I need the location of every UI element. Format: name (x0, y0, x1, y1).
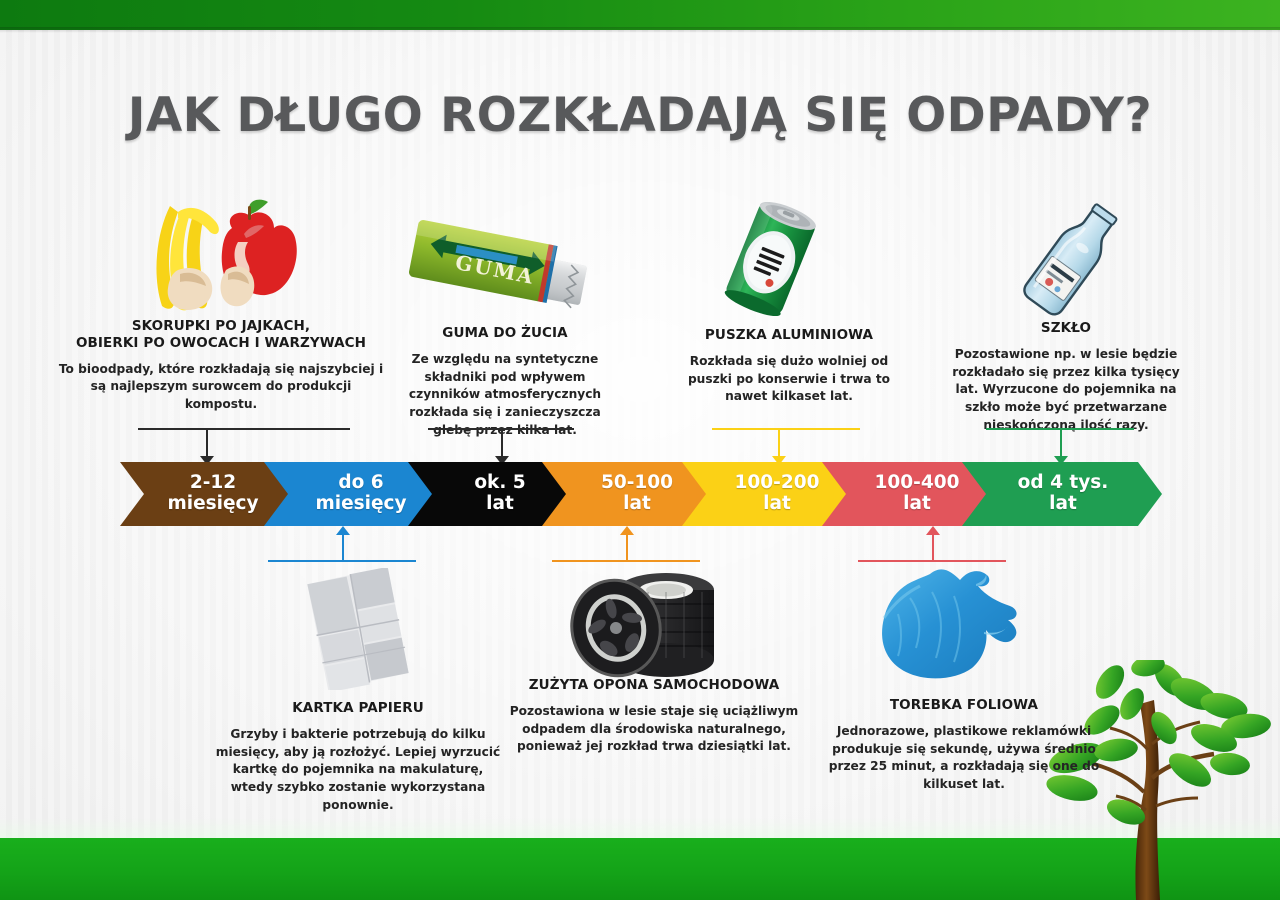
aluminium-can-icon (712, 202, 836, 320)
poster-canvas: JAK DŁUGO ROZKŁADAJĄ SIĘ ODPADY? (0, 0, 1280, 900)
timeline-segment-6: od 4 tys. lat (984, 462, 1142, 526)
decomposition-timeline: 2-12 miesięcy do 6 miesięcy ok. 5 lat 50… (120, 462, 1162, 526)
segment-line1: 2-12 (190, 473, 236, 494)
connector-plastic-bag (858, 526, 1006, 562)
card-body: To bioodpady, które rozkładają się najsz… (56, 361, 386, 414)
connector-tyre (552, 526, 700, 562)
connector-aluminium-can (712, 428, 860, 464)
paper-sheet-icon (292, 568, 418, 690)
timeline-segment-2: ok. 5 lat (430, 462, 570, 526)
card-heading: PUSZKA ALUMINIOWA (678, 327, 900, 344)
segment-line2: lat (486, 494, 514, 515)
segment-line1: ok. 5 (474, 473, 525, 494)
card-heading: SZKŁO (944, 320, 1188, 337)
segment-line1: 100-400 (875, 473, 960, 494)
page-title: JAK DŁUGO ROZKŁADAJĄ SIĘ ODPADY? (0, 88, 1280, 143)
card-heading: TOREBKA FOLIOWA (828, 697, 1100, 714)
car-tyre-icon (560, 566, 724, 684)
segment-line1: 100-200 (735, 473, 820, 494)
segment-line1: 50-100 (601, 473, 673, 494)
segment-line2: miesięcy (167, 494, 258, 515)
segment-line1: do 6 (338, 473, 383, 494)
card-body: Ze względu na syntetyczne składniki pod … (398, 351, 612, 439)
glass-bottle-icon (1012, 196, 1132, 322)
timeline-segment-4: 100-200 lat (704, 462, 850, 526)
card-paper: KARTKA PAPIERU Grzyby i bakterie potrzeb… (212, 700, 504, 814)
segment-line2: lat (1049, 494, 1077, 515)
top-green-bar (0, 0, 1280, 30)
chewing-gum-icon: GUMA (398, 212, 608, 318)
card-body: Grzyby i bakterie potrzebują do kilku mi… (212, 726, 504, 814)
card-body: Pozostawiona w lesie staje się uciążliwy… (508, 703, 800, 756)
card-heading: KARTKA PAPIERU (212, 700, 504, 717)
food-scraps-icon (112, 198, 312, 318)
card-body: Jednorazowe, plastikowe reklamówki produ… (828, 723, 1100, 794)
card-body: Rozkłada się dużo wolniej od puszki po k… (678, 353, 900, 406)
timeline-segment-1: do 6 miesięcy (286, 462, 436, 526)
segment-line2: lat (903, 494, 931, 515)
connector-glass (986, 428, 1134, 464)
card-glass: SZKŁO Pozostawione np. w lesie będzie ro… (944, 320, 1188, 434)
segment-line2: miesięcy (315, 494, 406, 515)
timeline-segment-5: 100-400 lat (844, 462, 990, 526)
connector-paper (268, 526, 416, 562)
card-chewing-gum: GUMA DO ŻUCIA Ze względu na syntetyczne … (398, 325, 612, 439)
timeline-segment-0: 2-12 miesięcy (138, 462, 288, 526)
plastic-bag-icon (876, 562, 1032, 688)
card-aluminium-can: PUSZKA ALUMINIOWA Rozkłada się dużo woln… (678, 327, 900, 406)
connector-food-scraps (138, 428, 350, 464)
card-body: Pozostawione np. w lesie będzie rozkłada… (944, 346, 1188, 434)
card-heading: GUMA DO ŻUCIA (398, 325, 612, 342)
segment-line1: od 4 tys. (1018, 473, 1109, 494)
card-heading: SKORUPKI PO JAJKACH, OBIERKI PO OWOCACH … (56, 318, 386, 352)
timeline-segment-3: 50-100 lat (564, 462, 710, 526)
card-heading: ZUŻYTA OPONA SAMOCHODOWA (508, 677, 800, 694)
segment-line2: lat (623, 494, 651, 515)
card-food-scraps: SKORUPKI PO JAJKACH, OBIERKI PO OWOCACH … (56, 318, 386, 414)
card-plastic-bag: TOREBKA FOLIOWA Jednorazowe, plastikowe … (828, 697, 1100, 794)
top-bar-shadow (0, 27, 1280, 33)
segment-line2: lat (763, 494, 791, 515)
connector-chewing-gum (428, 428, 574, 464)
card-tyre: ZUŻYTA OPONA SAMOCHODOWA Pozostawiona w … (508, 677, 800, 756)
